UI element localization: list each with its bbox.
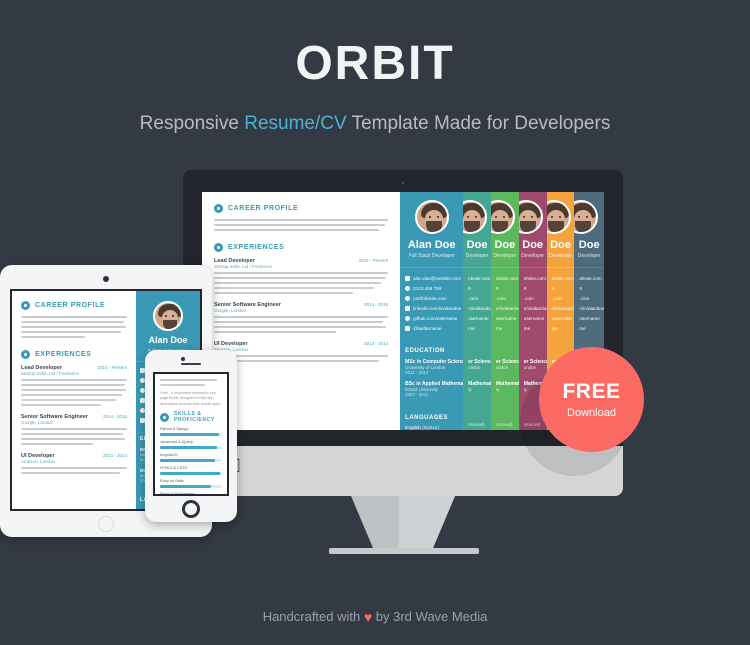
language-name: English xyxy=(405,426,422,430)
job-date: 2015 - Present xyxy=(97,365,127,370)
job-date: 2013 - 2014 xyxy=(103,453,127,458)
subtitle-pre: Responsive xyxy=(140,113,245,134)
profile-card: Alan Doe Full Stack Developer xyxy=(400,192,463,267)
career-profile-text xyxy=(214,219,388,231)
section-title: CAREER PROFILE xyxy=(228,205,298,212)
job-org: Amazon, London xyxy=(214,347,388,352)
skill-bar-track xyxy=(160,446,222,449)
section-header-career-profile: CAREER PROFILE xyxy=(21,301,127,310)
contact-text: .com xyxy=(579,296,589,301)
job-date: 2014 - 2015 xyxy=(103,414,127,419)
contact-text: .com xyxy=(524,296,534,301)
section-title: EXPERIENCES xyxy=(35,351,91,358)
skill-bar-track xyxy=(160,472,222,475)
skill-name: HTML5 & CSS3 xyxy=(160,466,222,470)
avatar xyxy=(547,200,571,234)
avatar xyxy=(463,200,487,234)
ipad-home-button[interactable] xyxy=(98,516,114,532)
contact-text: 9 xyxy=(496,286,499,291)
resume-sidebar-variant-green-teal: Doe Developer ebsite.com 9 .com n/in/ala… xyxy=(463,192,491,430)
contact-text: me xyxy=(552,326,558,331)
education-school: ty xyxy=(468,387,486,392)
skill-bar-fill xyxy=(160,485,211,488)
contact-text: ebsite.com xyxy=(468,276,490,281)
experience-item: UI Developer 2013 - 2014 Amazon, London xyxy=(21,453,127,474)
iphone-screen: Orbit - A responsive resume/cv one page … xyxy=(153,372,229,496)
skill-item: React & Prototyping xyxy=(160,492,222,496)
profile-role: Developer xyxy=(574,253,604,259)
mail-icon xyxy=(405,276,410,281)
badge-download-label: Download xyxy=(567,407,616,419)
twitter-icon xyxy=(405,326,410,331)
job-org: Google, London xyxy=(214,308,388,313)
circle-bullet-icon xyxy=(160,413,169,422)
circle-bullet-icon xyxy=(21,301,30,310)
phone-note: Orbit - A responsive resume/cv one page … xyxy=(160,391,222,407)
skill-bar-track xyxy=(160,485,222,488)
imac-camera-icon xyxy=(400,180,406,186)
profile-role: Developer xyxy=(519,253,547,259)
avatar xyxy=(491,200,515,234)
experience-item: Lead Developer 2015 - Present Startup In… xyxy=(21,365,127,406)
block-heading: LANGUAGES xyxy=(405,415,458,421)
profile-name: Doe xyxy=(463,239,491,251)
subtitle-accent: Resume/CV xyxy=(244,113,346,134)
contact-item: 0123 456 789 xyxy=(405,286,458,291)
contact-text: n/in/alandoe xyxy=(552,306,575,311)
contact-text: .com xyxy=(552,296,562,301)
contact-text: n/in/alandoe xyxy=(524,306,547,311)
contact-text: username xyxy=(468,316,488,321)
footer-credit: Handcrafted with ♥ by 3rd Wave Media xyxy=(0,609,750,625)
skill-name: Javascript & jQuery xyxy=(160,440,222,444)
profile-name: Doe xyxy=(491,239,519,251)
contact-text: 9 xyxy=(579,286,582,291)
skill-bar-fill xyxy=(160,459,215,462)
linkedin-icon xyxy=(405,306,410,311)
profile-name: Alan Doe xyxy=(141,336,195,346)
section-header-skills: SKILLS & PROFICIENCY xyxy=(160,411,222,423)
device-mockup-scene: CAREER PROFILE EXPERIENCES Lead Develope… xyxy=(0,150,750,550)
section-header-career-profile: CAREER PROFILE xyxy=(214,204,388,213)
education-years: 2007 - 2011 xyxy=(405,392,458,397)
contact-text: ebsite.com xyxy=(552,276,574,281)
contact-item: portfoliosite.com xyxy=(405,296,458,301)
free-download-badge[interactable]: FREE Download xyxy=(539,347,644,452)
job-org: Startup India, Ltd / Freelance xyxy=(21,371,127,376)
block-heading: EDUCATION xyxy=(405,348,458,354)
contact-text: username xyxy=(496,316,516,321)
imac-foot xyxy=(329,548,479,554)
language-level: ssional) xyxy=(496,423,513,428)
contact-text: me xyxy=(524,326,530,331)
contact-text: 0123 456 789 xyxy=(413,286,441,291)
job-org: Amazon, London xyxy=(21,459,127,464)
skill-item: Ruby on Rails xyxy=(160,479,222,488)
avatar xyxy=(574,200,598,234)
contact-text: username xyxy=(579,316,599,321)
ipad-camera-icon xyxy=(103,276,109,282)
language-item: English (Native) xyxy=(405,426,458,430)
contact-item: linkedin.com/in/alandoe xyxy=(405,306,458,311)
contact-text: .com xyxy=(468,296,478,301)
globe-icon xyxy=(405,296,410,301)
contact-text: alan.doe@website.com xyxy=(413,276,461,281)
language-level: ssional) xyxy=(468,423,485,428)
contact-text: linkedin.com/in/alandoe xyxy=(413,306,461,311)
contact-text: .com xyxy=(496,296,506,301)
skill-name: Python & Django xyxy=(160,427,222,431)
skill-item: Python & Django xyxy=(160,427,222,436)
contact-item: @twittername xyxy=(405,326,458,331)
contact-text: portfoliosite.com xyxy=(413,296,446,301)
contact-item: github.com/username xyxy=(405,316,458,321)
resume-sidebar-variant-green: Doe Developer ebsite.com 9 .com n/in/ala… xyxy=(491,192,519,430)
education-school: ty xyxy=(496,387,514,392)
skill-item: Javascript & jQuery xyxy=(160,440,222,449)
skill-bar-fill xyxy=(160,472,220,475)
education-years: 2011 - 2012 xyxy=(405,370,458,375)
page-title: ORBIT xyxy=(0,36,750,91)
experience-item: Senior Software Engineer 2014 - 2015 Goo… xyxy=(214,302,388,333)
section-header-experiences: EXPERIENCES xyxy=(214,243,388,252)
skill-bar-track xyxy=(160,433,222,436)
profile-name: Doe xyxy=(547,239,575,251)
contact-text: username xyxy=(552,316,572,321)
iphone-speaker xyxy=(181,363,201,365)
languages-block: LANGUAGES English (Native) French (Profe… xyxy=(400,411,463,430)
avatar xyxy=(153,301,183,331)
contact-text: ebsite.com xyxy=(524,276,546,281)
section-header-experiences: EXPERIENCES xyxy=(21,350,127,359)
experience-item: UI Developer 2013 - 2014 Amazon, London xyxy=(214,341,388,362)
contact-text: n/in/alandoe xyxy=(468,306,491,311)
contact-text: me xyxy=(496,326,502,331)
avatar xyxy=(519,200,543,234)
contact-text: n/in/alandoe xyxy=(496,306,519,311)
contact-text: me xyxy=(468,326,474,331)
profile-name: Doe xyxy=(574,239,604,251)
job-date: 2015 - Present xyxy=(359,258,389,263)
profile-role: Developer xyxy=(547,253,575,259)
language-level: (Native) xyxy=(422,426,439,430)
job-org: Google, London xyxy=(21,420,127,425)
experience-item: Senior Software Engineer 2014 - 2015 Goo… xyxy=(21,414,127,445)
profile-role: Developer xyxy=(491,253,519,259)
contact-text: ebsite.com xyxy=(579,276,601,281)
resume-sidebar-variant-teal: Alan Doe Full Stack Developer alan.doe@w… xyxy=(400,192,463,430)
profile-name: Alan Doe xyxy=(405,239,458,251)
page-subtitle: Responsive Resume/CV Template Made for D… xyxy=(0,113,750,135)
education-block: EDUCATION MSc in Computer Science Univer… xyxy=(400,344,463,411)
job-date: 2013 - 2014 xyxy=(364,341,388,346)
contact-text: 9 xyxy=(524,286,527,291)
subtitle-post: Template Made for Developers xyxy=(347,113,611,134)
avatar xyxy=(415,200,449,234)
tablet-main-column: CAREER PROFILE EXPERIENCES xyxy=(12,291,136,509)
contact-text: @twittername xyxy=(413,326,441,331)
footer-post: by 3rd Wave Media xyxy=(372,609,487,624)
profile-role: Developer xyxy=(463,253,491,259)
promo-page: ORBIT Responsive Resume/CV Template Made… xyxy=(0,0,750,645)
contact-text: me xyxy=(579,326,585,331)
skill-name: Ruby on Rails xyxy=(160,479,222,483)
section-title: EXPERIENCES xyxy=(228,244,284,251)
iphone-home-button[interactable] xyxy=(182,500,200,518)
contact-list: alan.doe@website.com 0123 456 789 portfo… xyxy=(400,267,463,344)
contact-text: 9 xyxy=(468,286,471,291)
skill-item: AngularJS xyxy=(160,453,222,462)
circle-bullet-icon xyxy=(214,243,223,252)
experience-item: Lead Developer 2015 - Present Startup In… xyxy=(214,258,388,294)
phone-icon xyxy=(405,286,410,291)
contact-text: github.com/username xyxy=(413,316,457,321)
section-title: CAREER PROFILE xyxy=(35,302,105,309)
skill-bar-track xyxy=(160,459,222,462)
skill-bar-fill xyxy=(160,446,217,449)
job-org: Startup India, Ltd / Freelance xyxy=(214,264,388,269)
skill-bar-fill xyxy=(160,433,219,436)
contact-item: alan.doe@website.com xyxy=(405,276,458,281)
circle-bullet-icon xyxy=(21,350,30,359)
skill-item: HTML5 & CSS3 xyxy=(160,466,222,475)
heart-icon: ♥ xyxy=(364,609,372,625)
section-title: SKILLS & PROFICIENCY xyxy=(174,411,222,423)
iphone-mockup: Orbit - A responsive resume/cv one page … xyxy=(145,350,237,522)
profile-name: Doe xyxy=(519,239,547,251)
circle-bullet-icon xyxy=(214,204,223,213)
skill-name: AngularJS xyxy=(160,453,222,457)
contact-text: ebsite.com xyxy=(496,276,518,281)
contact-text: username xyxy=(524,316,544,321)
skill-name: React & Prototyping xyxy=(160,492,222,496)
contact-text: n/in/alandoe xyxy=(579,306,604,311)
github-icon xyxy=(405,316,410,321)
profile-role: Full Stack Developer xyxy=(405,253,458,259)
iphone-camera-icon xyxy=(181,357,185,361)
footer-pre: Handcrafted with xyxy=(263,609,364,624)
job-date: 2014 - 2015 xyxy=(364,302,388,307)
badge-free-label: FREE xyxy=(562,380,620,404)
contact-text: 9 xyxy=(552,286,555,291)
